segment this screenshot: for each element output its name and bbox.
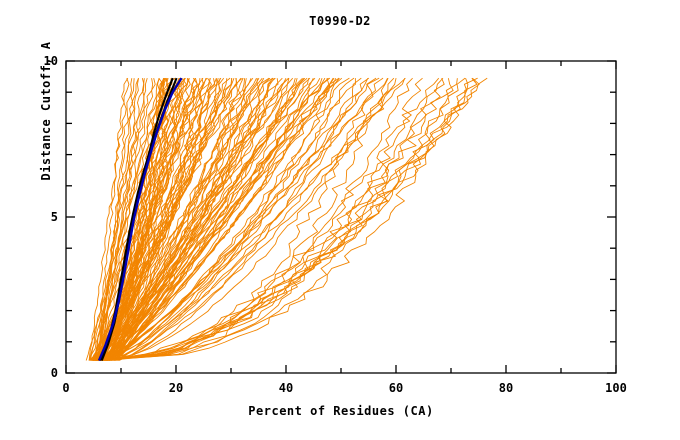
curve-layer — [86, 78, 487, 360]
x-tick-label: 60 — [389, 381, 403, 395]
x-tick-label: 40 — [279, 381, 293, 395]
plot-area — [0, 0, 680, 440]
chart-root: T0990-D2 Distance Cutoff, A Percent of R… — [0, 0, 680, 440]
x-tick-label: 100 — [605, 381, 627, 395]
x-tick-label: 20 — [169, 381, 183, 395]
y-tick-label: 10 — [44, 54, 58, 68]
y-tick-label: 0 — [51, 366, 58, 380]
y-tick-label: 5 — [51, 210, 58, 224]
x-tick-label: 0 — [62, 381, 69, 395]
x-tick-label: 80 — [499, 381, 513, 395]
